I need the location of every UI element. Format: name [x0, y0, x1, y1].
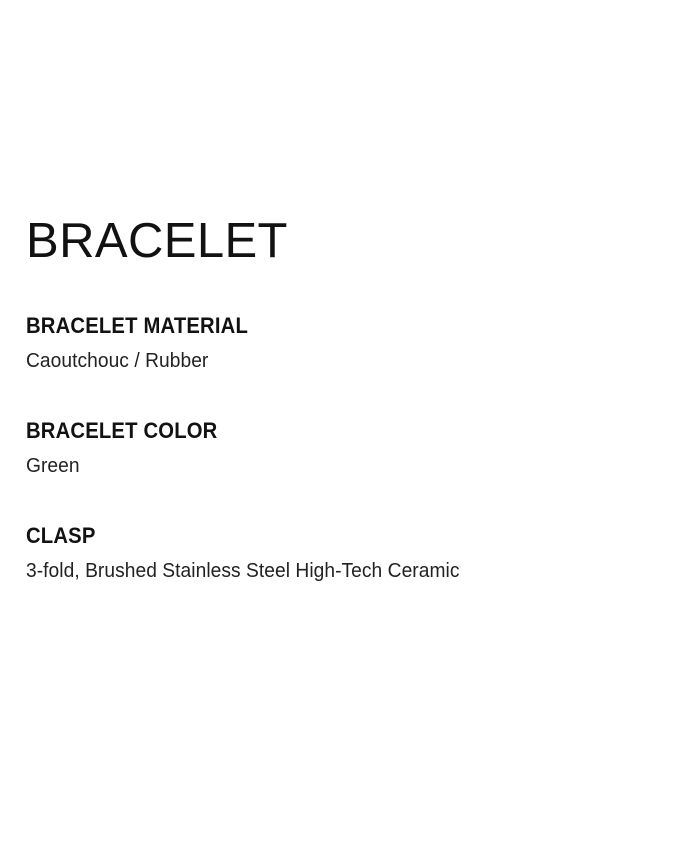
bracelet-spec-panel: BRACELET BRACELET MATERIAL Caoutchouc / … — [0, 0, 700, 850]
spec-row-clasp: CLASP 3-fold, Brushed Stainless Steel Hi… — [26, 523, 666, 584]
spec-label-clasp: CLASP — [26, 523, 615, 549]
spec-label-bracelet-material: BRACELET MATERIAL — [26, 313, 615, 339]
spec-value-clasp: 3-fold, Brushed Stainless Steel High-Tec… — [26, 558, 640, 584]
spec-value-bracelet-material: Caoutchouc / Rubber — [26, 348, 640, 374]
spec-row-bracelet-material: BRACELET MATERIAL Caoutchouc / Rubber — [26, 313, 666, 374]
spec-value-bracelet-color: Green — [26, 453, 640, 479]
spec-label-bracelet-color: BRACELET COLOR — [26, 418, 615, 444]
spec-row-bracelet-color: BRACELET COLOR Green — [26, 418, 666, 479]
specification-list: BRACELET MATERIAL Caoutchouc / Rubber BR… — [26, 313, 666, 584]
page-title: BRACELET — [26, 213, 288, 269]
